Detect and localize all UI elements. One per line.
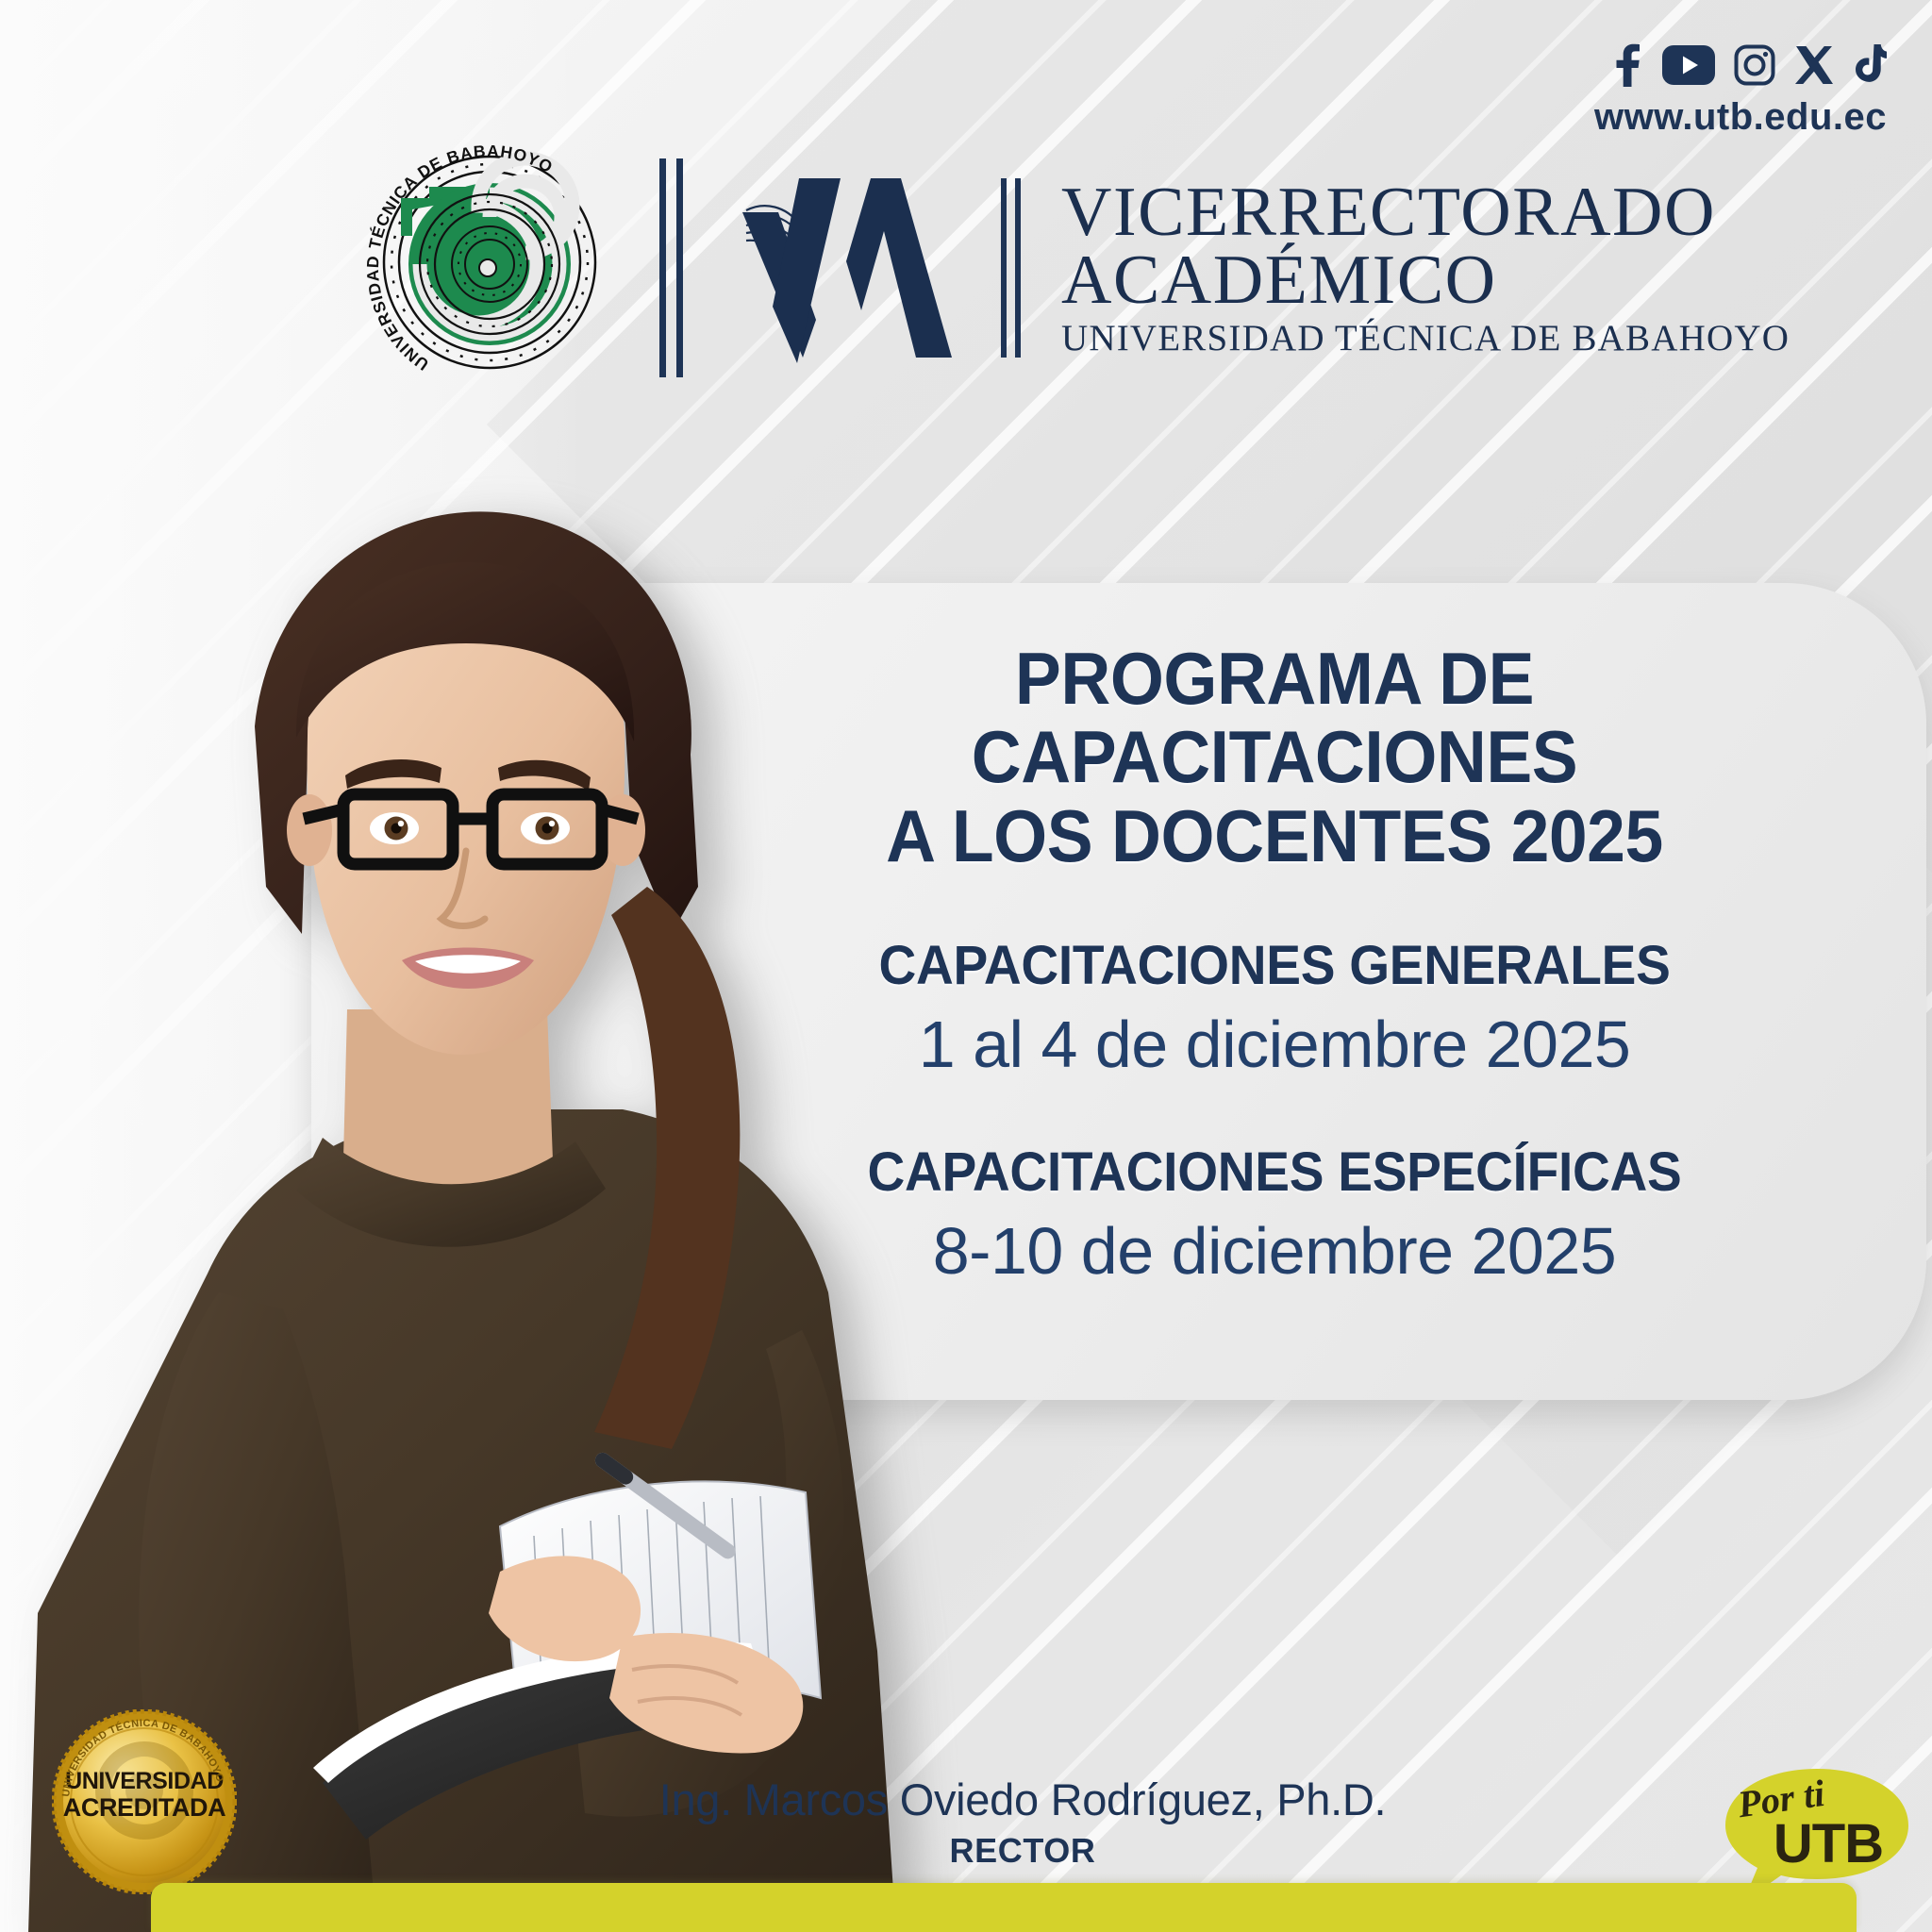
youtube-icon[interactable]	[1662, 45, 1715, 85]
utb-seal-logo: UNIVERSIDAD TÉCNICA DE BABAHOYO	[363, 142, 616, 394]
instagram-icon[interactable]	[1734, 44, 1775, 86]
rector-signature: Ing. Marcos Oviedo Rodríguez, Ph.D. RECT…	[0, 1774, 1932, 1871]
facebook-icon[interactable]	[1609, 43, 1643, 87]
va-line-3: UNIVERSIDAD TÉCNICA DE BABAHOYO	[1061, 321, 1790, 357]
x-twitter-icon[interactable]	[1794, 45, 1834, 85]
va-divider-bars	[1001, 178, 1029, 358]
brand-logo-row: UNIVERSIDAD TÉCNICA DE BABAHOYO	[363, 142, 1790, 394]
va-wordmark: VICERRECTORADO ACADÉMICO UNIVERSIDAD TÉC…	[1061, 179, 1790, 356]
va-line-2: ACADÉMICO	[1061, 247, 1790, 315]
bottom-accent-bar	[151, 1883, 1857, 1932]
rector-role: RECTOR	[113, 1831, 1932, 1871]
website-url[interactable]: www.utb.edu.ec	[1594, 96, 1887, 139]
social-and-website: www.utb.edu.ec	[1594, 40, 1887, 139]
poster-canvas: www.utb.edu.ec	[0, 0, 1932, 1932]
social-icon-row	[1594, 40, 1887, 91]
logo-divider-bars	[659, 158, 701, 377]
rector-name: Ing. Marcos Oviedo Rodríguez, Ph.D.	[113, 1774, 1932, 1825]
va-line-1: VICERRECTORADO	[1061, 179, 1790, 247]
va-monogram-logo	[741, 169, 980, 367]
tiktok-icon[interactable]	[1853, 44, 1887, 86]
